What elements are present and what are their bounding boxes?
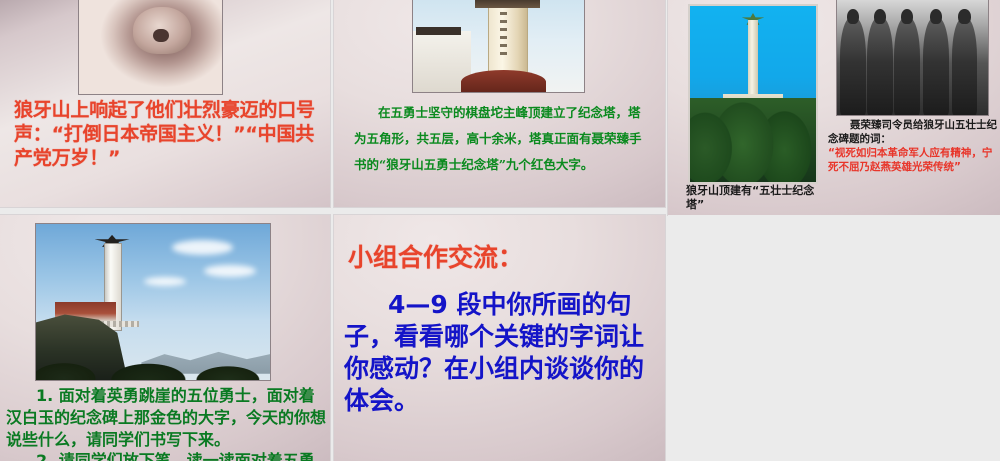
- slide-thumbnail-bottom-left[interactable]: 1. 面对着英勇跳崖的五位勇士，面对着汉白玉的纪念碑上那金色的大字，今天的你想说…: [0, 215, 330, 461]
- memorial-description: 在五勇士坚守的棋盘坨主峰顶建立了纪念塔，塔为五角形，共五层，高十余米，塔真正面有…: [354, 100, 646, 178]
- inscription-intro: 聂荣臻司令员给狼牙山五壮士纪念碑题的词：: [828, 118, 998, 146]
- slide-slot-bottom-right-empty: [668, 215, 1000, 461]
- tower-eave: [416, 27, 460, 35]
- slide-thumbnail-bottom-center[interactable]: 小组合作交流： 4—9 段中你所画的句子，看看哪个关键的字词让你感动？在小组内谈…: [334, 215, 665, 461]
- memorial-tower-photo: [412, 0, 585, 93]
- monument-on-hill-photo: [688, 4, 818, 184]
- slide-thumbnail-top-right[interactable]: 狼牙山顶建有“五壮士纪念塔” 聂荣臻司令员给狼牙山五壮士纪念碑题的词： “视死如…: [668, 0, 1000, 215]
- cloud-shape: [144, 277, 186, 286]
- monument-caption: 狼牙山顶建有“五壮士纪念塔”: [686, 184, 826, 212]
- cloud-shape: [172, 240, 233, 256]
- soldier-figure: [894, 18, 920, 115]
- assignment-item-1: 1. 面对着英勇跳崖的五位勇士，面对着汉白玉的纪念碑上那金色的大字，今天的你想说…: [6, 385, 328, 451]
- slogan-text: 狼牙山上响起了他们壮烈豪迈的口号声：“打倒日本帝国主义！”“中国共产党万岁！”: [14, 98, 324, 170]
- langya-mountain-pagoda-photo: [35, 223, 271, 381]
- discussion-title: 小组合作交流：: [348, 243, 648, 273]
- tower-inscription: [500, 12, 507, 57]
- monument-trees: [690, 98, 816, 182]
- tower-shaft: [488, 0, 528, 72]
- tower-cap: [475, 0, 540, 8]
- soldier-figure: [867, 18, 893, 115]
- five-soldiers-photo: [836, 0, 989, 116]
- tower-base: [461, 70, 547, 93]
- assignment-item-2: 2. 请同学们放下笔，读一读面对着五勇士，面对着纪念碑你想说的话。: [6, 450, 328, 461]
- inscription-quote: “视死如归本革命军人应有精神，宁死不屈乃赵燕英雄光荣传统”: [828, 146, 1000, 174]
- discussion-body: 4—9 段中你所画的句子，看看哪个关键的字词让你感动？在小组内谈谈你的体会。: [344, 289, 659, 417]
- slide-thumbnail-top-center[interactable]: 在五勇士坚守的棋盘坨主峰顶建立了纪念塔，塔为五角形，共五层，高十余米，塔真正面有…: [334, 0, 665, 207]
- shouting-soldier-photo: [78, 0, 223, 95]
- soldier-figure: [840, 18, 866, 115]
- slide-grid-canvas: 狼牙山上响起了他们壮烈豪迈的口号声：“打倒日本帝国主义！”“中国共产党万岁！” …: [0, 0, 1000, 461]
- soldier-figure: [952, 18, 978, 115]
- monument-column: [748, 20, 758, 104]
- soldier-figure: [923, 18, 949, 115]
- cloud-shape: [204, 265, 255, 277]
- slide-thumbnail-top-left[interactable]: 狼牙山上响起了他们壮烈豪迈的口号声：“打倒日本帝国主义！”“中国共产党万岁！”: [0, 0, 330, 207]
- foreground-trees: [36, 352, 270, 380]
